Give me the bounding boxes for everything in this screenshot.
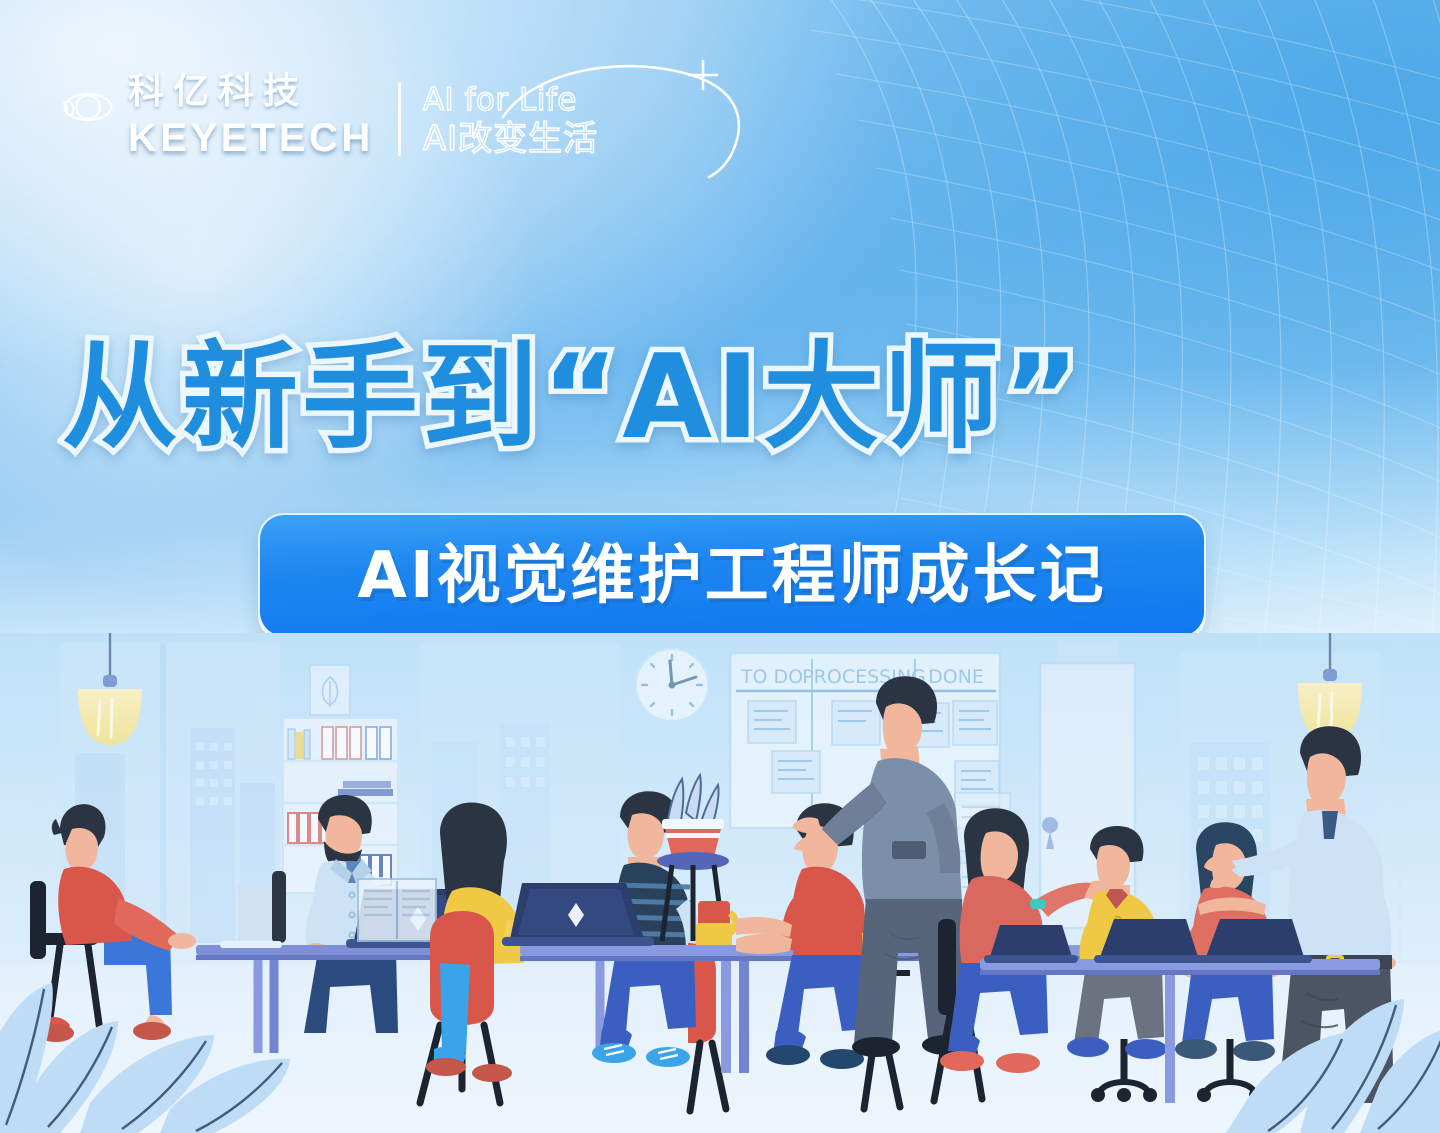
subtitle-text: AI视觉维护工程师成长记: [357, 544, 1106, 608]
brand-name-en: KEYETECH: [128, 118, 374, 158]
brand-logo: 科亿科技 KEYETECH AI for Life AI改变生活: [62, 74, 598, 158]
tagline-en: AI for Life: [423, 85, 598, 116]
subtitle-banner-wrap: AI视觉维护工程师成长记: [258, 513, 1206, 638]
brand-names: 科亿科技 KEYETECH: [128, 74, 374, 158]
brand-logo-left: 科亿科技 KEYETECH: [62, 74, 374, 158]
brand-name-cn: 科亿科技: [128, 74, 374, 110]
kanban-col-done: DONE: [928, 666, 984, 688]
framed-picture: [310, 665, 350, 715]
tagline-cn: AI改变生活: [423, 122, 598, 156]
logo-divider: [398, 82, 401, 156]
brand-tagline: AI for Life AI改变生活: [423, 77, 598, 156]
kanban-col-todo: TO DO: [740, 666, 803, 688]
poster-root: 科亿科技 KEYETECH AI for Life AI改变生活 从新手到“AI…: [0, 0, 1440, 1133]
headline-text: 从新手到“AI大师”: [62, 340, 1083, 456]
eye-logo-icon: [62, 81, 114, 133]
office-coworking-illustration: TO DO PROCESSING DONE: [0, 633, 1440, 1133]
coffee-mug: [696, 901, 735, 947]
headline-block: 从新手到“AI大师”: [62, 328, 1392, 468]
monitor-left-shelf: [358, 879, 436, 941]
subtitle-banner: AI视觉维护工程师成长记: [258, 513, 1206, 638]
wall-clock: [636, 649, 708, 721]
